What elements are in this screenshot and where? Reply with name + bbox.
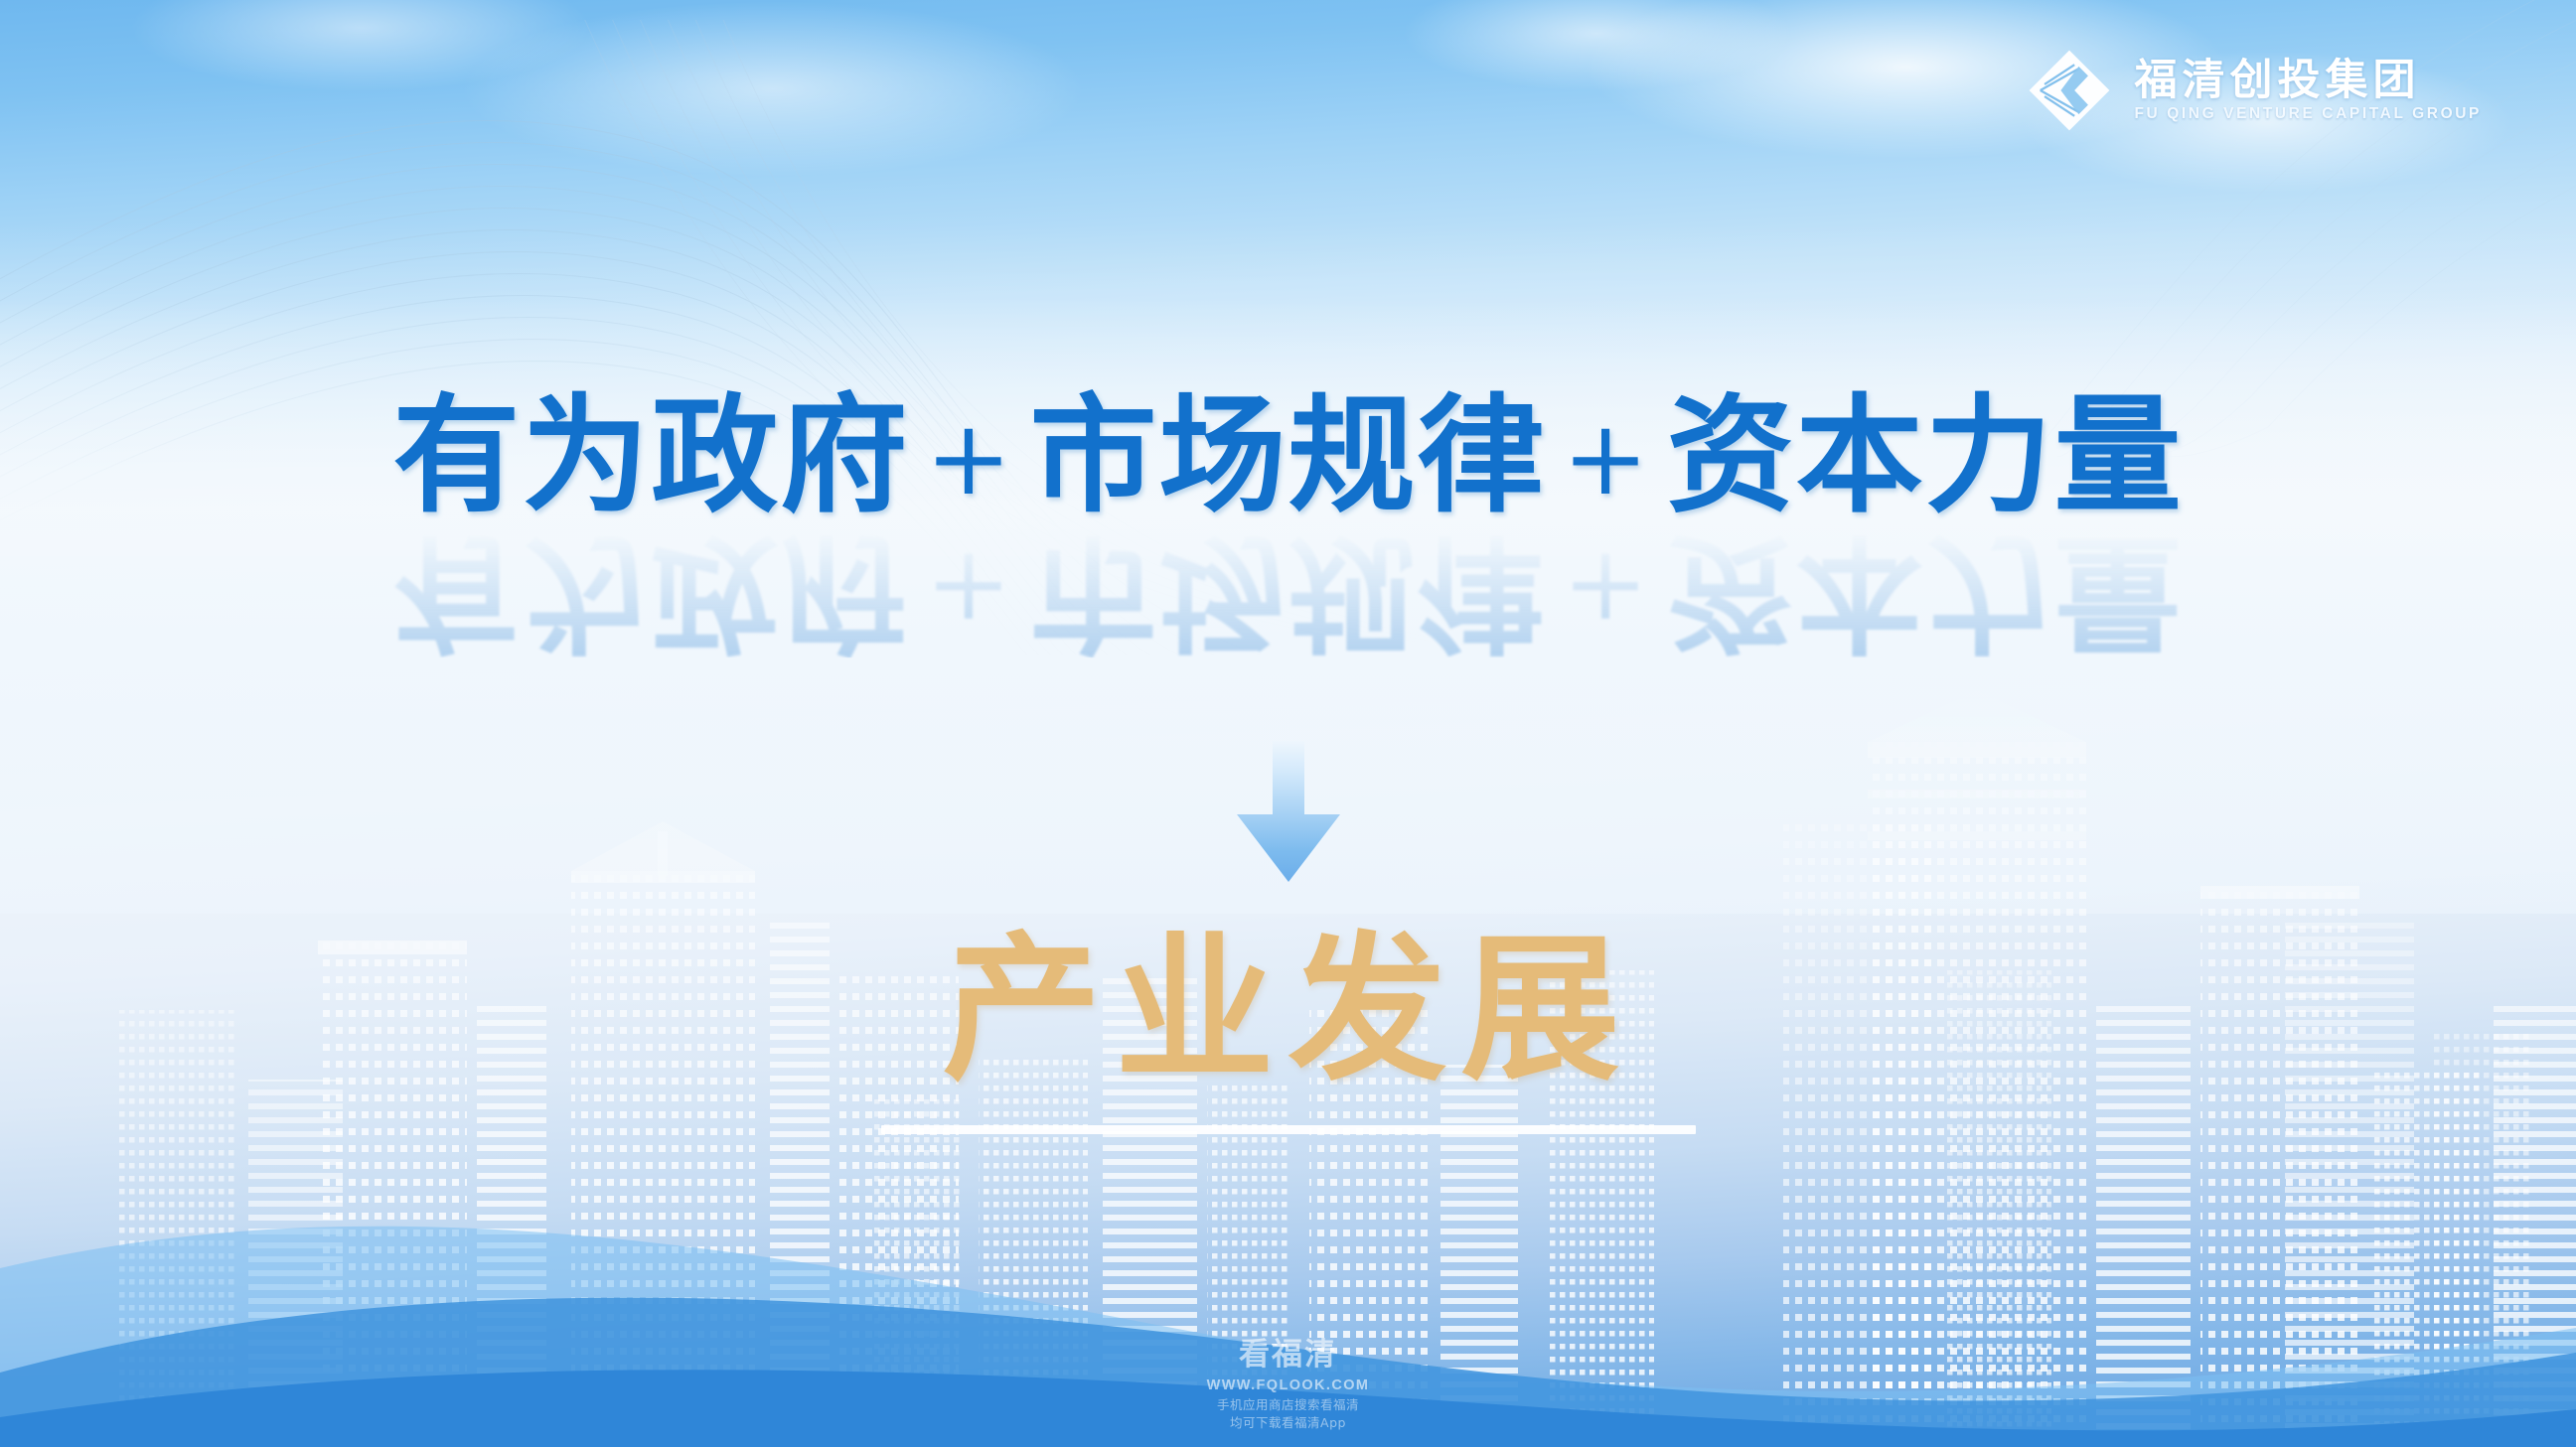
arrow-down-container xyxy=(1223,737,1354,891)
headline-part-3: 资本力量 xyxy=(1667,516,2184,665)
headline-plus-1: + xyxy=(909,528,1029,650)
headline-plus-2: + xyxy=(1547,528,1667,650)
headline-part-2: 市场规律 xyxy=(1029,381,1546,530)
headline-reflection: 有为政府+市场规律+资本力量 xyxy=(0,524,2576,657)
watermark-line-2: 均可下载看福清App xyxy=(1207,1415,1370,1431)
subheadline-underline xyxy=(881,1125,1696,1134)
logo-name-en: FU QING VENTURE CAPITAL GROUP xyxy=(2134,106,2482,122)
headline-part-1: 有为政府 xyxy=(392,516,909,665)
arrow-down-icon xyxy=(1223,737,1354,886)
site-watermark: 看福清 WWW.FQLOOK.COM 手机应用商店搜索看福清 均可下载看福清Ap… xyxy=(1207,1336,1370,1431)
watermark-brand: 看福清 xyxy=(1207,1336,1370,1375)
subheadline-text: 产业发展 xyxy=(0,924,2576,1095)
brand-logo: 福清创投集团 FU QING VENTURE CAPITAL GROUP xyxy=(2027,48,2482,133)
watermark-url: WWW.FQLOOK.COM xyxy=(1207,1376,1370,1394)
headline-plus-1: + xyxy=(909,397,1029,518)
headline-plus-2: + xyxy=(1547,397,1667,518)
slide-subheadline: 产业发展 xyxy=(0,924,2576,1095)
headline-part-3: 资本力量 xyxy=(1667,381,2184,530)
bottom-wave-decoration xyxy=(0,1119,2576,1447)
headline-part-2: 市场规律 xyxy=(1029,516,1546,665)
diamond-chevron-logo-icon xyxy=(2027,48,2112,133)
headline-part-1: 有为政府 xyxy=(392,381,909,530)
slide-headline: 有为政府+市场规律+资本力量 xyxy=(0,389,2576,522)
decorative-line-art xyxy=(0,20,1629,655)
presentation-slide: 福清创投集团 FU QING VENTURE CAPITAL GROUP 有为政… xyxy=(0,0,2576,1447)
watermark-line-1: 手机应用商店搜索看福清 xyxy=(1207,1397,1370,1413)
logo-name-cn: 福清创投集团 xyxy=(2134,60,2482,102)
